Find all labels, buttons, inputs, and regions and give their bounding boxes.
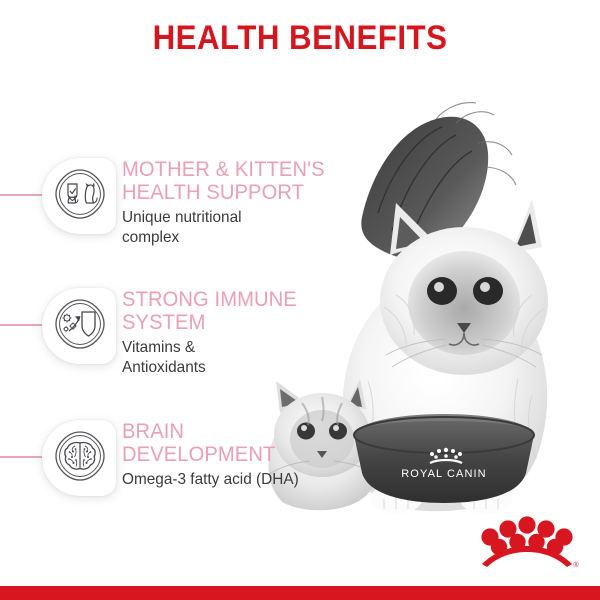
bowl-brand-text: ROYAL CANIN (401, 468, 486, 480)
benefit-subtitle: Omega-3 fatty acid (DHA) (122, 470, 348, 490)
benefit-text: BRAIN DEVELOPMENT Omega-3 fatty acid (DH… (122, 420, 357, 490)
benefit-heading: STRONG IMMUNE SYSTEM (122, 288, 348, 334)
benefit-item-brain-development: BRAIN DEVELOPMENT Omega-3 fatty acid (DH… (0, 420, 360, 540)
registered-mark: ® (573, 561, 579, 569)
food-bowl: ROYAL CANIN (354, 414, 534, 503)
benefit-item-mother-kitten-health-support: MOTHER & KITTEN'S HEALTH SUPPORT Unique … (0, 158, 360, 278)
benefit-icon-card (42, 288, 116, 364)
benefit-heading: MOTHER & KITTEN'S HEALTH SUPPORT (122, 158, 348, 204)
health-benefits-poster: HEALTH BENEFITS (0, 0, 600, 600)
page-title: HEALTH BENEFITS (24, 18, 576, 58)
footer-red-bar (0, 586, 600, 600)
benefit-text: STRONG IMMUNE SYSTEM Vitamins & Antioxid… (122, 288, 357, 378)
benefit-heading: BRAIN DEVELOPMENT (122, 420, 348, 466)
benefit-text: MOTHER & KITTEN'S HEALTH SUPPORT Unique … (122, 158, 357, 248)
benefit-icon-card (42, 420, 116, 496)
royal-canin-crown-logo: ® (472, 510, 582, 572)
benefit-subtitle: Unique nutritional complex (122, 208, 348, 248)
benefit-subtitle: Vitamins & Antioxidants (122, 338, 348, 378)
benefit-item-strong-immune-system: STRONG IMMUNE SYSTEM Vitamins & Antioxid… (0, 288, 360, 408)
benefit-icon-card (42, 158, 116, 234)
